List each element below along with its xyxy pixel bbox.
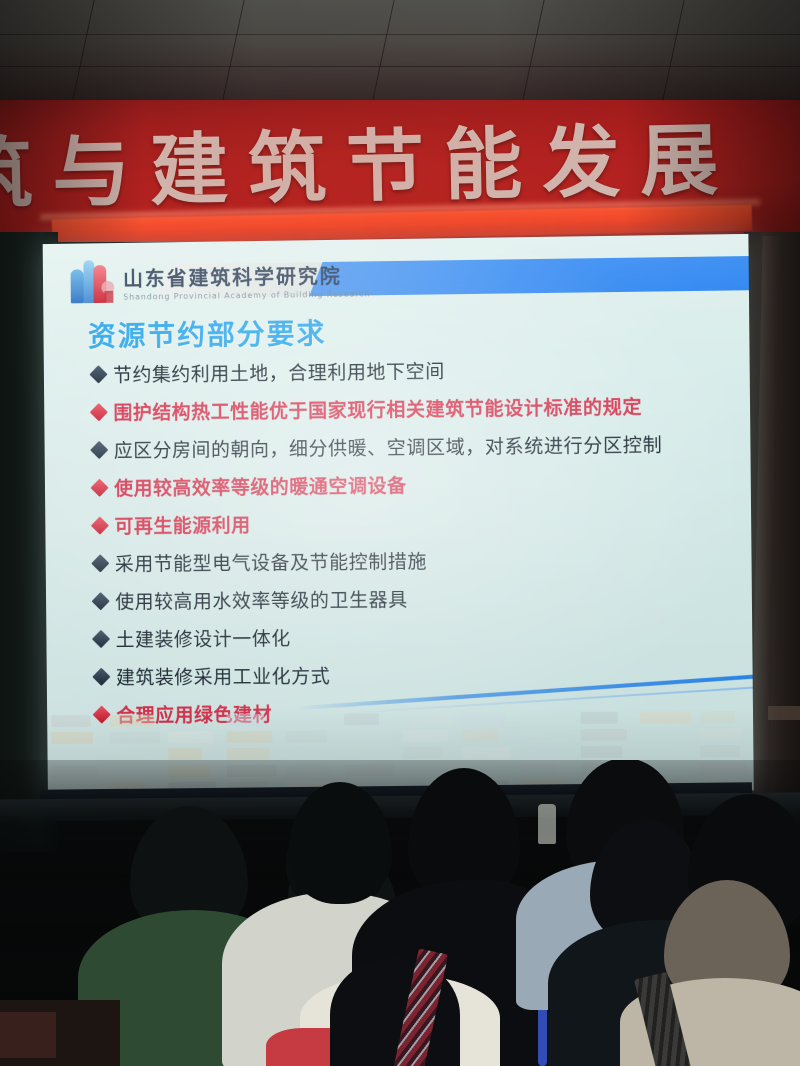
bullet-diamond-icon bbox=[90, 403, 108, 421]
mosaic-tile bbox=[344, 713, 379, 725]
logo-chinese-name: 山东省建筑科学研究院 bbox=[123, 259, 371, 291]
bullet-diamond-icon bbox=[92, 592, 110, 610]
bullet-diamond-icon bbox=[89, 365, 107, 383]
bullet-text: 可再生能源利用 bbox=[114, 510, 250, 538]
mosaic-tile bbox=[226, 714, 264, 726]
bullet-text: 应区分房间的朝向，细分供暖、空调区域，对系统进行分区控制 bbox=[114, 430, 663, 463]
mosaic-tile bbox=[285, 730, 327, 742]
mosaic-tile bbox=[700, 745, 740, 757]
bullet-text: 土建装修设计一体化 bbox=[116, 624, 291, 652]
organization-logo: 山东省建筑科学研究院 Shandong Provincial Academy o… bbox=[68, 255, 370, 303]
conference-room-photo: 筑与建筑节能发展 山东省建筑科学研究院 Shandong Provincial … bbox=[0, 0, 800, 1066]
mosaic-tile bbox=[403, 747, 443, 759]
bullet-diamond-icon bbox=[90, 441, 108, 459]
slide-title: 资源节约部分要求 bbox=[88, 312, 327, 355]
right-wall-sill bbox=[768, 706, 800, 720]
mosaic-tile bbox=[580, 712, 617, 724]
bullet-diamond-icon bbox=[92, 668, 110, 686]
bullet-text: 节约集约利用土地，合理利用地下空间 bbox=[113, 356, 445, 387]
mosaic-tile bbox=[403, 713, 453, 725]
header-blue-shape bbox=[309, 255, 754, 296]
bullet-diamond-icon bbox=[91, 516, 109, 534]
mosaic-tile bbox=[168, 748, 202, 760]
event-banner: 筑与建筑节能发展 bbox=[0, 100, 800, 242]
bullet-diamond-icon bbox=[91, 554, 109, 572]
mosaic-tile bbox=[640, 711, 692, 723]
bullet-list: 节约集约利用土地，合理利用地下空间围护结构热工性能优于国家现行相关建筑节能设计标… bbox=[91, 353, 735, 739]
building-logo-icon bbox=[68, 259, 116, 303]
mosaic-tile bbox=[109, 715, 153, 727]
mosaic-tile bbox=[581, 746, 623, 758]
mosaic-tile bbox=[110, 731, 161, 743]
bullet-text: 使用较高效率等级的暖通空调设备 bbox=[114, 471, 407, 501]
mosaic-tile bbox=[699, 711, 734, 723]
mosaic-tile bbox=[462, 729, 498, 741]
bullet-item: 使用较高效率等级的暖通空调设备 bbox=[92, 468, 732, 512]
mosaic-tile bbox=[581, 729, 627, 741]
bullet-item: 采用节能型电气设备及节能控制措施 bbox=[93, 544, 734, 588]
mosaic-tile bbox=[51, 732, 92, 744]
logo-english-name: Shandong Provincial Academy of Building … bbox=[123, 289, 370, 301]
mosaic-tile bbox=[462, 746, 510, 758]
bullet-text: 采用节能型电气设备及节能控制措施 bbox=[115, 547, 427, 577]
ceiling bbox=[0, 0, 800, 104]
bullet-item: 土建装修设计一体化 bbox=[94, 620, 735, 663]
bullet-text: 使用较高用水效率等级的卫生器具 bbox=[115, 585, 408, 614]
bullet-text: 围护结构热工性能优于国家现行相关建筑节能设计标准的规定 bbox=[113, 392, 642, 425]
cup bbox=[538, 804, 556, 844]
bullet-item: 使用较高用水效率等级的卫生器具 bbox=[93, 582, 734, 625]
bullet-item: 可再生能源利用 bbox=[93, 506, 734, 550]
bullet-diamond-icon bbox=[92, 630, 110, 648]
mosaic-tile bbox=[700, 728, 742, 740]
bullet-item: 应区分房间的朝向，细分供暖、空调区域，对系统进行分区控制 bbox=[92, 429, 732, 474]
projection-screen: 山东省建筑科学研究院 Shandong Provincial Academy o… bbox=[43, 234, 754, 794]
bullet-text: 建筑装修采用工业化方式 bbox=[116, 661, 330, 689]
mosaic-tile bbox=[51, 715, 91, 727]
audience bbox=[0, 760, 800, 1066]
mosaic-tile bbox=[227, 731, 273, 743]
bullet-diamond-icon bbox=[90, 479, 108, 497]
mosaic-tile bbox=[462, 712, 506, 724]
mosaic-tile bbox=[521, 746, 561, 758]
mosaic-tile bbox=[227, 748, 270, 760]
mosaic-tile bbox=[168, 731, 213, 743]
mosaic-tile bbox=[403, 730, 448, 742]
